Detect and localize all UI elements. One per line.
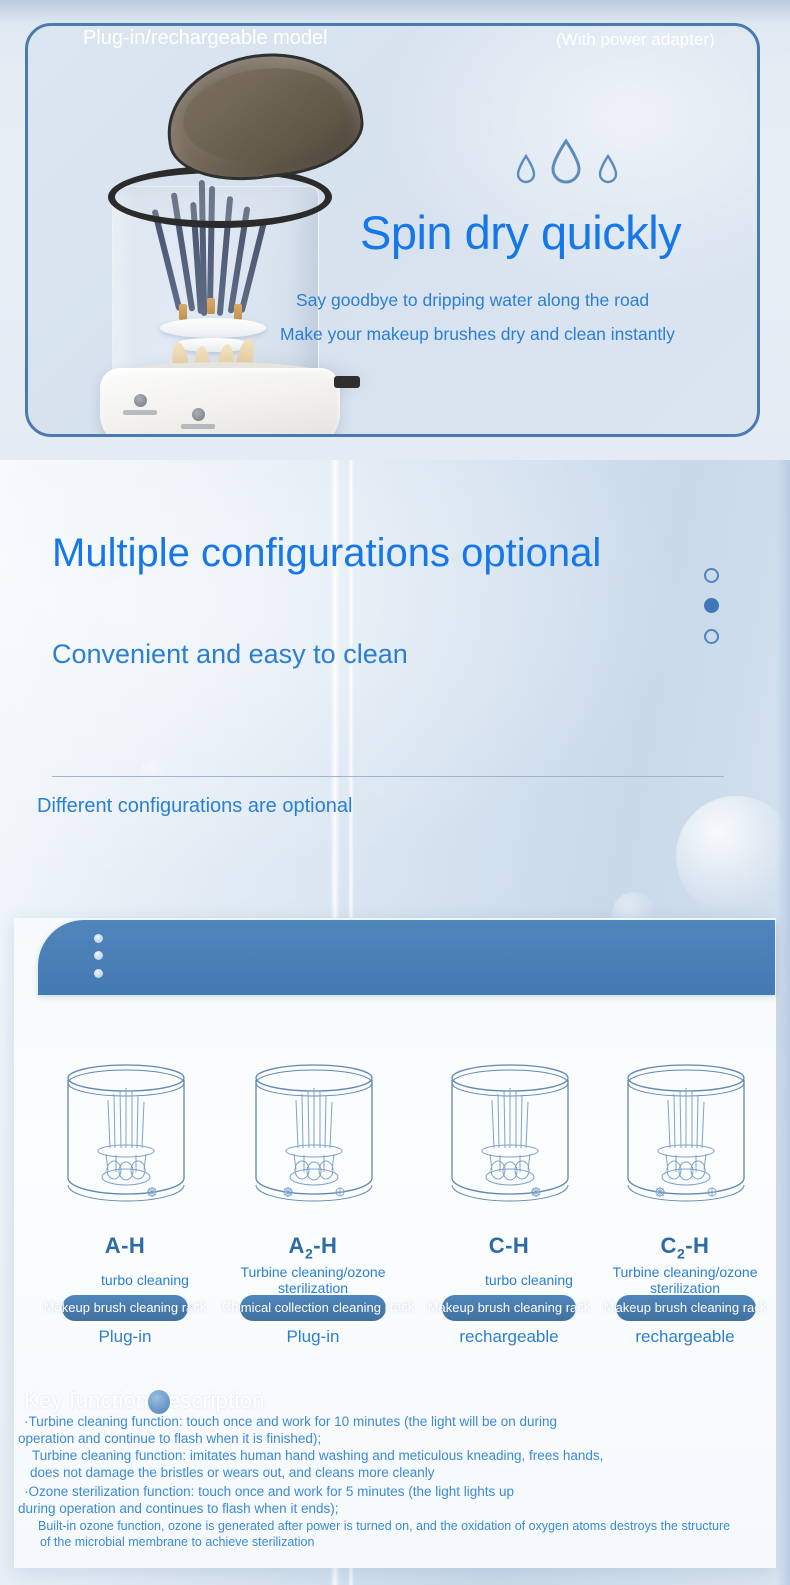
bead-icon: [94, 969, 103, 978]
decorative-bubble: [140, 760, 166, 786]
hero-section: Spin dry quickly Say goodbye to dripping…: [0, 0, 790, 460]
hero-subtitle-1: Say goodbye to dripping water along the …: [296, 290, 649, 311]
product-badge-label: Makeup brush cleaning rack: [62, 1300, 188, 1315]
key-function-line: Turbine cleaning function: imitates huma…: [32, 1448, 603, 1463]
configurations-subheading: Convenient and easy to clean: [52, 636, 532, 672]
models-banner: [38, 920, 775, 995]
product-function: turbo cleaning: [54, 1272, 236, 1288]
banner-right-note: (With power adapter): [556, 30, 715, 50]
hero-subtitle-2: Make your makeup brushes dry and clean i…: [280, 324, 675, 345]
product-power-type: rechargeable: [418, 1327, 600, 1347]
water-drop-icon: [515, 154, 537, 186]
key-function-line: during operation and continues to flash …: [18, 1501, 338, 1516]
device-power-knob: [334, 376, 360, 388]
product-function: Turbine cleaning/ozone sterilization: [234, 1264, 392, 1296]
product-power-type: Plug-in: [34, 1327, 216, 1347]
key-function-line: of the microbial membrane to achieve ste…: [40, 1535, 314, 1549]
bead-icon: [94, 934, 103, 943]
key-function-heading: Key function description: [24, 1388, 265, 1414]
water-drop-icon: [597, 154, 619, 186]
key-function-line: Built-in ozone function, ozone is genera…: [38, 1519, 730, 1533]
product-detail-page: Spin dry quickly Say goodbye to dripping…: [0, 0, 790, 1585]
device-lid-inner: [178, 59, 350, 170]
snowflake-icon: [134, 394, 147, 407]
product-badge-label: Makeup brush cleaning rack: [442, 1300, 576, 1315]
pagination-dots[interactable]: [704, 568, 722, 644]
key-function-line: operation and continue to flash when it …: [18, 1431, 321, 1446]
product-badge: Makeup brush cleaning rack Makeup brush …: [34, 1295, 216, 1321]
pagination-dot-2-active[interactable]: [704, 598, 719, 613]
device-lid: [159, 43, 369, 190]
product-function: Turbine cleaning/ozone sterilization: [606, 1264, 764, 1296]
water-drops-group: [515, 138, 635, 194]
product-card[interactable]: C-H turbo cleaning Makeup brush cleaning…: [418, 1040, 600, 1350]
product-function: turbo cleaning: [438, 1272, 620, 1288]
pagination-dot-3[interactable]: [704, 629, 719, 644]
button-label-mark: [181, 424, 215, 429]
product-jar-illustration: [56, 1052, 196, 1212]
product-model: A-H: [34, 1233, 216, 1259]
product-badge-label: Makeup brush cleaning rack: [616, 1300, 756, 1315]
hero-card: Spin dry quickly Say goodbye to dripping…: [25, 23, 760, 437]
ozone-icon: [192, 408, 205, 421]
product-badge: Chemical collection cleaning rack Chemic…: [222, 1295, 404, 1321]
product-model: C2-H: [594, 1233, 776, 1261]
page-right-edge: [776, 460, 790, 1585]
product-power-type: Plug-in: [222, 1327, 404, 1347]
bead-icon: [94, 951, 103, 960]
product-device-illustration: [68, 46, 398, 426]
brush-ferrule: [207, 298, 215, 314]
product-card[interactable]: C2-H Turbine cleaning/ozone sterilizatio…: [594, 1040, 776, 1350]
configurations-heading: Multiple configurations optional: [52, 530, 612, 576]
product-badge-label: Chemical collection cleaning rack: [240, 1300, 386, 1315]
product-jar-illustration: [244, 1052, 384, 1212]
key-function-line: does not damage the bristles or wears ou…: [30, 1465, 434, 1480]
pagination-dot-1[interactable]: [704, 568, 719, 583]
product-cards: A-H turbo cleaning Makeup brush cleaning…: [14, 1040, 776, 1350]
product-model: C-H: [418, 1233, 600, 1259]
banner-title: Plug-in/rechargeable model: [83, 27, 328, 50]
divider: [52, 776, 724, 777]
button-label-mark: [123, 410, 157, 415]
product-badge-pill: Makeup brush cleaning rack: [62, 1295, 188, 1321]
decorative-bubble: [676, 796, 790, 916]
product-badge-pill: Makeup brush cleaning rack: [616, 1295, 756, 1321]
product-card[interactable]: A-H turbo cleaning Makeup brush cleaning…: [34, 1040, 216, 1350]
brush-holder-upper-disc: [160, 318, 266, 338]
brush-ferrule: [234, 304, 242, 320]
product-card[interactable]: A2-H Turbine cleaning/ozone sterilizatio…: [222, 1040, 404, 1350]
product-jar-illustration: [616, 1052, 756, 1212]
product-badge: Makeup brush cleaning rack Makeup brush …: [418, 1295, 600, 1321]
brush-ferrule: [179, 304, 187, 320]
product-power-type: rechargeable: [594, 1327, 776, 1347]
key-function-line: ·Ozone sterilization function: touch onc…: [24, 1484, 514, 1499]
key-function-line: ·Turbine cleaning function: touch once a…: [24, 1414, 557, 1429]
key-function-badge-icon: [148, 1390, 170, 1414]
product-jar-illustration: [440, 1052, 580, 1212]
product-badge-pill: Chemical collection cleaning rack: [240, 1295, 386, 1321]
product-model: A2-H: [222, 1233, 404, 1261]
configurations-caption: Different configurations are optional: [37, 795, 352, 818]
product-badge: Makeup brush cleaning rack Makeup brush …: [594, 1295, 776, 1321]
product-badge-pill: Makeup brush cleaning rack: [442, 1295, 576, 1321]
water-drop-icon: [549, 138, 583, 188]
hero-title: Spin dry quickly: [360, 209, 681, 256]
